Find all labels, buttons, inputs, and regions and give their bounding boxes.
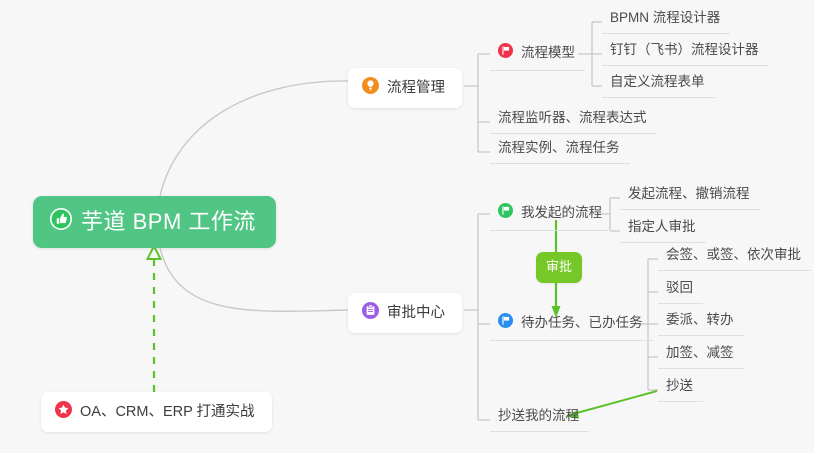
flag-icon-green (498, 203, 513, 223)
node-multi-sign-types[interactable]: 会签、或签、依次审批 (658, 248, 811, 271)
node-process-listener-expression[interactable]: 流程监听器、流程表达式 (490, 111, 657, 134)
node-label-multi-sign-types: 会签、或签、依次审批 (666, 248, 801, 263)
node-label-start-cancel-process: 发起流程、撤销流程 (628, 187, 750, 202)
node-label-assigned-approver: 指定人审批 (628, 220, 696, 235)
integration-note-label: OA、CRM、ERP 打通实战 (80, 405, 255, 420)
node-assigned-approver[interactable]: 指定人审批 (620, 220, 706, 243)
flag-icon-blue (498, 313, 513, 333)
approval-badge-label: 审批 (546, 259, 572, 274)
node-label-bpmn-designer: BPMN 流程设计器 (610, 11, 720, 26)
flag-icon-red (498, 43, 513, 63)
node-process-instance-task[interactable]: 流程实例、流程任务 (490, 141, 630, 164)
node-delegate-transfer[interactable]: 委派、转办 (658, 313, 744, 336)
node-label-process-model: 流程模型 (521, 46, 575, 61)
node-label-cc: 抄送 (666, 379, 693, 394)
connector-root-to-approval-center (160, 248, 348, 311)
star-icon (55, 401, 72, 423)
connector-process-management-bracket (464, 54, 490, 152)
connector-root-to-process-management (160, 81, 348, 196)
node-label-reject: 驳回 (666, 281, 693, 296)
mindmap-canvas: 芋道 BPM 工作流 流程管理 流程模型 BPMN 流程设计器 钉钉（飞书 (0, 0, 814, 453)
root-label: 芋道 BPM 工作流 (81, 211, 256, 233)
node-start-cancel-process[interactable]: 发起流程、撤销流程 (620, 187, 760, 210)
branch-node-approval-center[interactable]: 审批中心 (348, 293, 462, 333)
node-add-remove-sign[interactable]: 加签、减签 (658, 346, 744, 369)
node-reject[interactable]: 驳回 (658, 281, 703, 304)
node-label-dingtalk-feishu-designer: 钉钉（飞书）流程设计器 (610, 43, 759, 58)
node-cc[interactable]: 抄送 (658, 379, 703, 402)
node-todo-done-tasks[interactable]: 待办任务、已办任务 (490, 313, 653, 341)
node-label-delegate-transfer: 委派、转办 (666, 313, 734, 328)
branch-label-process-management: 流程管理 (387, 81, 445, 96)
approval-badge[interactable]: 审批 (536, 252, 582, 283)
integration-note-arrow (148, 246, 161, 392)
connector-approval-center-bracket (464, 214, 490, 420)
node-dingtalk-feishu-designer[interactable]: 钉钉（飞书）流程设计器 (602, 43, 769, 66)
node-label-my-initiated-process: 我发起的流程 (521, 206, 602, 221)
node-label-cc-to-me-process: 抄送我的流程 (498, 409, 579, 424)
clipboard-icon (362, 302, 379, 324)
branch-node-process-management[interactable]: 流程管理 (348, 68, 462, 108)
node-process-model[interactable]: 流程模型 (490, 43, 585, 71)
root-node[interactable]: 芋道 BPM 工作流 (33, 196, 276, 248)
lightbulb-icon (362, 77, 379, 99)
node-cc-to-me-process[interactable]: 抄送我的流程 (490, 409, 589, 432)
node-label-process-instance-task: 流程实例、流程任务 (498, 141, 620, 156)
node-label-custom-process-form: 自定义流程表单 (610, 75, 705, 90)
node-label-process-listener-expression: 流程监听器、流程表达式 (498, 111, 647, 126)
node-label-add-remove-sign: 加签、减签 (666, 346, 734, 361)
node-label-todo-done-tasks: 待办任务、已办任务 (521, 316, 643, 331)
branch-label-approval-center: 审批中心 (387, 306, 445, 321)
thumbs-up-icon (50, 208, 72, 235)
node-bpmn-designer[interactable]: BPMN 流程设计器 (602, 11, 730, 34)
integration-note-node[interactable]: OA、CRM、ERP 打通实战 (41, 392, 272, 432)
node-custom-process-form[interactable]: 自定义流程表单 (602, 75, 715, 98)
node-my-initiated-process[interactable]: 我发起的流程 (490, 203, 612, 231)
